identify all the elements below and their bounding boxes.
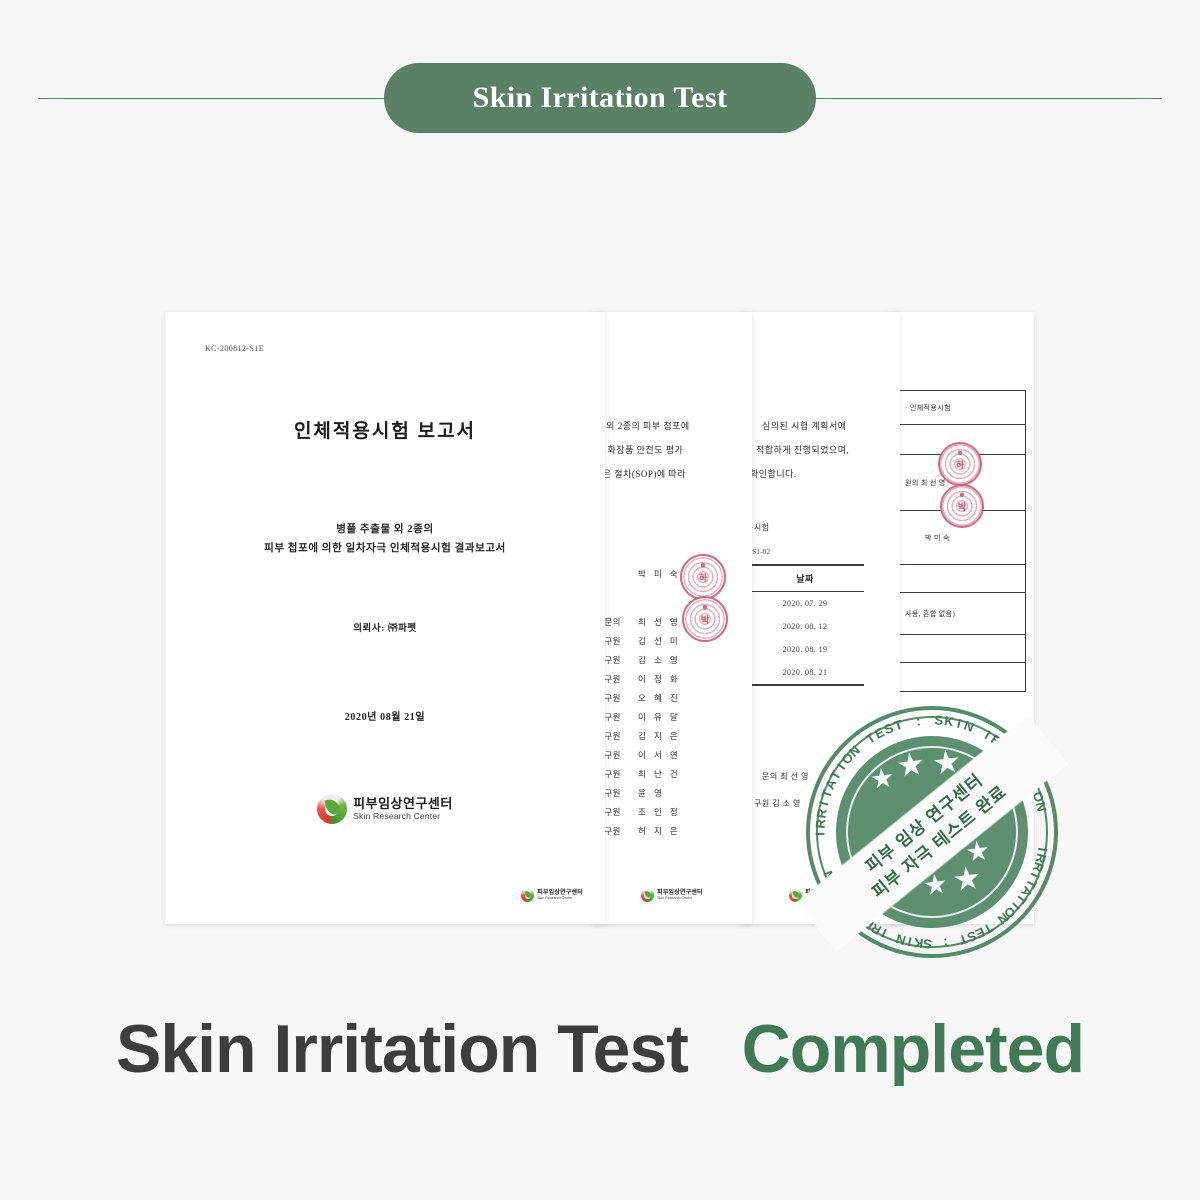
signature-name: 이 정 화 xyxy=(638,673,681,685)
cover-logo-kr: 피부임상연구센터 xyxy=(353,797,453,810)
signature-name: 최 난 건 xyxy=(638,768,681,780)
page-title: Skin Irritation Test Completed xyxy=(0,1010,1200,1088)
page4-grid-cell: 사용, 혼합 없음) xyxy=(905,609,955,619)
official-seal-stamp: 하 xyxy=(680,554,726,600)
document-subtitle-line1: 병풀 추출물 외 2종의 xyxy=(165,520,605,539)
table-rule xyxy=(746,684,864,686)
signature-name: 오 혜 진 xyxy=(638,692,681,704)
star-icon xyxy=(953,865,982,894)
page-header: Skin Irritation Test xyxy=(0,0,1200,180)
footer-logo-en: Skin Research Center xyxy=(537,897,583,901)
signature-name: 최 선 영 xyxy=(638,616,681,628)
star-icon xyxy=(870,766,895,791)
signature-name: 윤 영 xyxy=(638,787,665,799)
document-date: 2020년 08월 21일 xyxy=(165,708,605,723)
footer-logo-en: Skin Research Center xyxy=(657,897,703,901)
page4-grid-cell: · 인체적용시험 xyxy=(905,403,951,413)
signature-row: 연구원 김 소 영 xyxy=(596,650,681,669)
date-table-header: 날짜 xyxy=(746,566,864,591)
page4-grid-table: · 인체적용시험 원의 최 선 영 박 미 숙 사용, 혼합 없음) xyxy=(898,390,1026,692)
skin-research-center-logo-icon xyxy=(317,794,347,824)
document-page-2: "외 2종의 피부 첩포에 서 화장품 안전도 평가 은은 절차(SOP)에 따… xyxy=(592,312,752,924)
page4-grid-cell: 원의 최 선 영 xyxy=(905,478,946,488)
document-subtitle: 병풀 추출물 외 2종의 피부 첩포에 의한 일차자극 인체적용시험 결과보고서 xyxy=(165,520,605,558)
signature-row: 연구원 허 지 은 xyxy=(596,821,681,840)
skin-research-center-logo-icon xyxy=(521,889,534,902)
page3-date-table: 날짜 2020. 07. 29 2020. 08. 12 2020. 08. 1… xyxy=(746,564,864,686)
official-seal-stamp: 박 xyxy=(682,596,728,642)
seal-label: 박 xyxy=(958,500,966,513)
signature-row: 박 미 숙 xyxy=(596,560,681,588)
star-icon xyxy=(896,751,925,780)
signature-row: 연구원 이 서 연 xyxy=(596,745,681,764)
signature-row: 연구원 김 지 은 xyxy=(596,726,681,745)
signature-row: 연구원 최 난 건 xyxy=(596,764,681,783)
signature-name: 김 선 미 xyxy=(638,635,681,647)
header-badge: Skin Irritation Test xyxy=(384,63,816,133)
page4-grid-cell: 박 미 숙 xyxy=(925,533,950,543)
seal-label: 하 xyxy=(699,571,707,584)
star-icon xyxy=(965,839,990,864)
document-subtitle-line2: 피부 첩포에 의한 일차자극 인체적용시험 결과보고서 xyxy=(165,539,605,558)
header-badge-label: Skin Irritation Test xyxy=(473,81,728,115)
page2-signature-list: 박 미 숙 전문의 최 선 영 연구원 김 선 미 연구원 김 소 영 연구원 xyxy=(596,560,681,840)
document-code: KC-200812-S1E xyxy=(205,344,264,353)
page-title-dark: Skin Irritation Test xyxy=(116,1011,688,1087)
page2-paragraph-line: 은은 절차(SOP)에 따라 xyxy=(594,464,686,484)
page3-paragraph-line: 적합하게 진행되었으며, xyxy=(756,440,849,460)
signature-name: 김 지 은 xyxy=(638,730,681,742)
footer-logo: 피부임상연구센터 Skin Research Center xyxy=(521,889,583,902)
signature-name: 이 유 달 xyxy=(638,711,681,723)
signature-row: 전문의 최 선 영 xyxy=(596,612,681,631)
date-table-row: 2020. 08. 21 xyxy=(746,661,864,684)
signature-row: 연구원 이 유 달 xyxy=(596,707,681,726)
date-table-row: 2020. 08. 19 xyxy=(746,638,864,661)
official-seal-stamp: 박 xyxy=(940,484,984,528)
header-rule-left xyxy=(38,98,408,99)
cover-logo: 피부임상연구센터 Skin Research Center xyxy=(165,794,605,824)
skin-research-center-logo-icon xyxy=(641,889,654,902)
page2-paragraph-line: 서 화장품 안전도 평가 xyxy=(596,440,683,460)
seal-label: 하 xyxy=(956,458,964,471)
official-seal-stamp: 하 xyxy=(938,442,982,486)
document-title: 인체적용시험 보고서 xyxy=(165,416,605,443)
signature-row xyxy=(596,588,681,612)
signature-row: 연구원 오 혜 진 xyxy=(596,688,681,707)
page2-paragraph-line: "외 2종의 피부 첩포에 xyxy=(602,416,690,436)
skin-irritation-certification-stamp: IRRITATION TEST : SKIN IRRITATION IRRITA… xyxy=(792,692,1073,973)
signature-row: 연구원 김 선 미 xyxy=(596,631,681,650)
signature-row: 연구원 윤 영 xyxy=(596,783,681,802)
footer-logo: 피부임상연구센터 Skin Research Center xyxy=(592,889,752,902)
seal-label: 박 xyxy=(701,613,709,626)
signature-name: 박 미 숙 xyxy=(638,568,681,580)
header-rule-right xyxy=(792,98,1162,99)
document-client: 의뢰사: ㈜파펫 xyxy=(165,620,605,634)
signature-name: 조 인 정 xyxy=(638,806,681,818)
page-title-green: Completed xyxy=(742,1011,1084,1087)
page3-signature-line: 구원 김 소 영 xyxy=(754,794,801,814)
page3-paragraph-line: 심의된 시험 계획서에 xyxy=(762,416,847,436)
cover-logo-en: Skin Research Center xyxy=(353,812,453,821)
signature-row: 연구원 조 인 정 xyxy=(596,802,681,821)
document-page-1-cover: KC-200812-S1E 인체적용시험 보고서 병풀 추출물 외 2종의 피부… xyxy=(165,312,605,924)
signature-name: 이 서 연 xyxy=(638,749,681,761)
date-table-row: 2020. 07. 29 xyxy=(746,592,864,615)
page3-paragraph-line: 확인합니다. xyxy=(750,464,797,484)
signature-row: 연구원 이 정 화 xyxy=(596,669,681,688)
date-table-row: 2020. 08. 12 xyxy=(746,615,864,638)
signature-name: 허 지 은 xyxy=(638,825,681,837)
signature-name: 김 소 영 xyxy=(638,654,681,666)
